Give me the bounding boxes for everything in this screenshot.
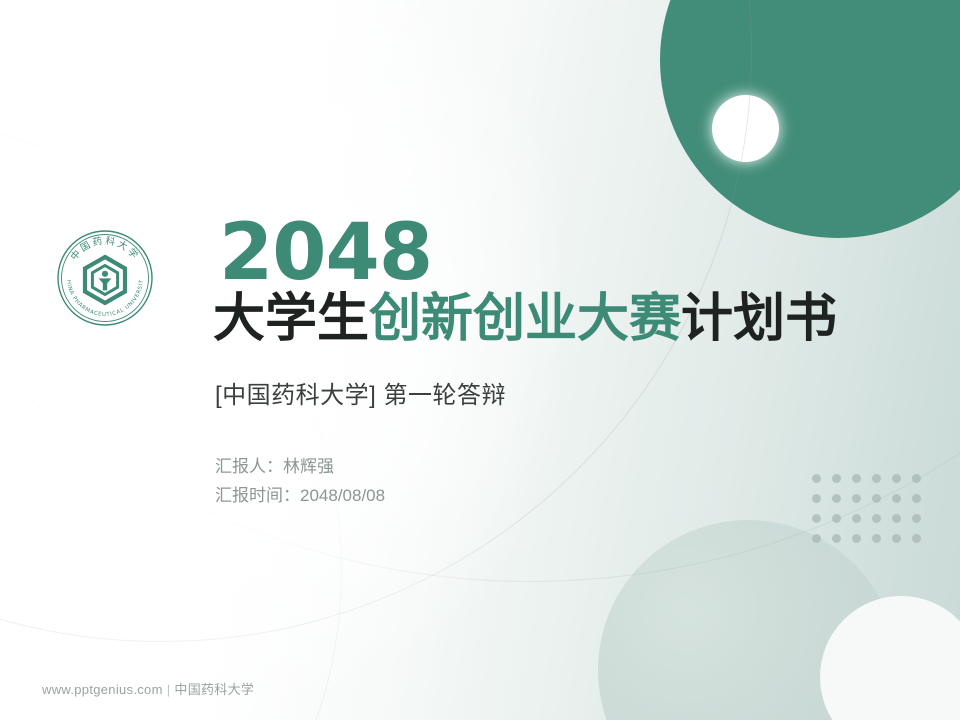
presenter-meta: 汇报人：林辉强 汇报时间：2048/08/08: [215, 452, 933, 510]
grid-dot: [832, 534, 841, 543]
grid-dot: [872, 534, 881, 543]
subtitle: [中国药科大学] 第一轮答辩: [215, 375, 933, 410]
grid-dot: [872, 514, 881, 523]
university-emblem-icon: 中国药科大学 CHINA PHARMACEUTICAL UNIVERSITY: [55, 228, 155, 328]
grid-dot: [912, 534, 921, 543]
footer: www.pptgenius.com|中国药科大学: [42, 679, 254, 698]
grid-dot: [852, 514, 861, 523]
title-segment-lead: 大学生: [213, 289, 369, 349]
year-heading: 2048: [219, 216, 933, 290]
title-text-block: 2048 大学生创新创业大赛计划书 [中国药科大学] 第一轮答辩 汇报人：林辉强…: [213, 216, 933, 511]
grid-dot: [892, 534, 901, 543]
grid-dot: [812, 534, 821, 543]
university-logo: 中国药科大学 CHINA PHARMACEUTICAL UNIVERSITY: [55, 228, 155, 328]
footer-website[interactable]: www.pptgenius.com: [42, 682, 163, 697]
grid-dot: [812, 514, 821, 523]
title-segment-highlight: 创新创业大赛: [369, 289, 681, 349]
presentation-date: 汇报时间：2048/08/08: [215, 481, 933, 510]
footer-organization: 中国药科大学: [174, 682, 254, 697]
presentation-slide: 中国药科大学 CHINA PHARMACEUTICAL UNIVERSITY 2…: [0, 0, 960, 720]
presenter-name: 汇报人：林辉强: [215, 452, 933, 481]
grid-dot: [832, 514, 841, 523]
footer-separator: |: [167, 682, 171, 697]
grid-dot: [912, 514, 921, 523]
grid-dot: [892, 514, 901, 523]
page-title: 大学生创新创业大赛计划书: [213, 292, 933, 347]
title-segment-tail: 计划书: [681, 289, 837, 349]
grid-dot: [852, 534, 861, 543]
